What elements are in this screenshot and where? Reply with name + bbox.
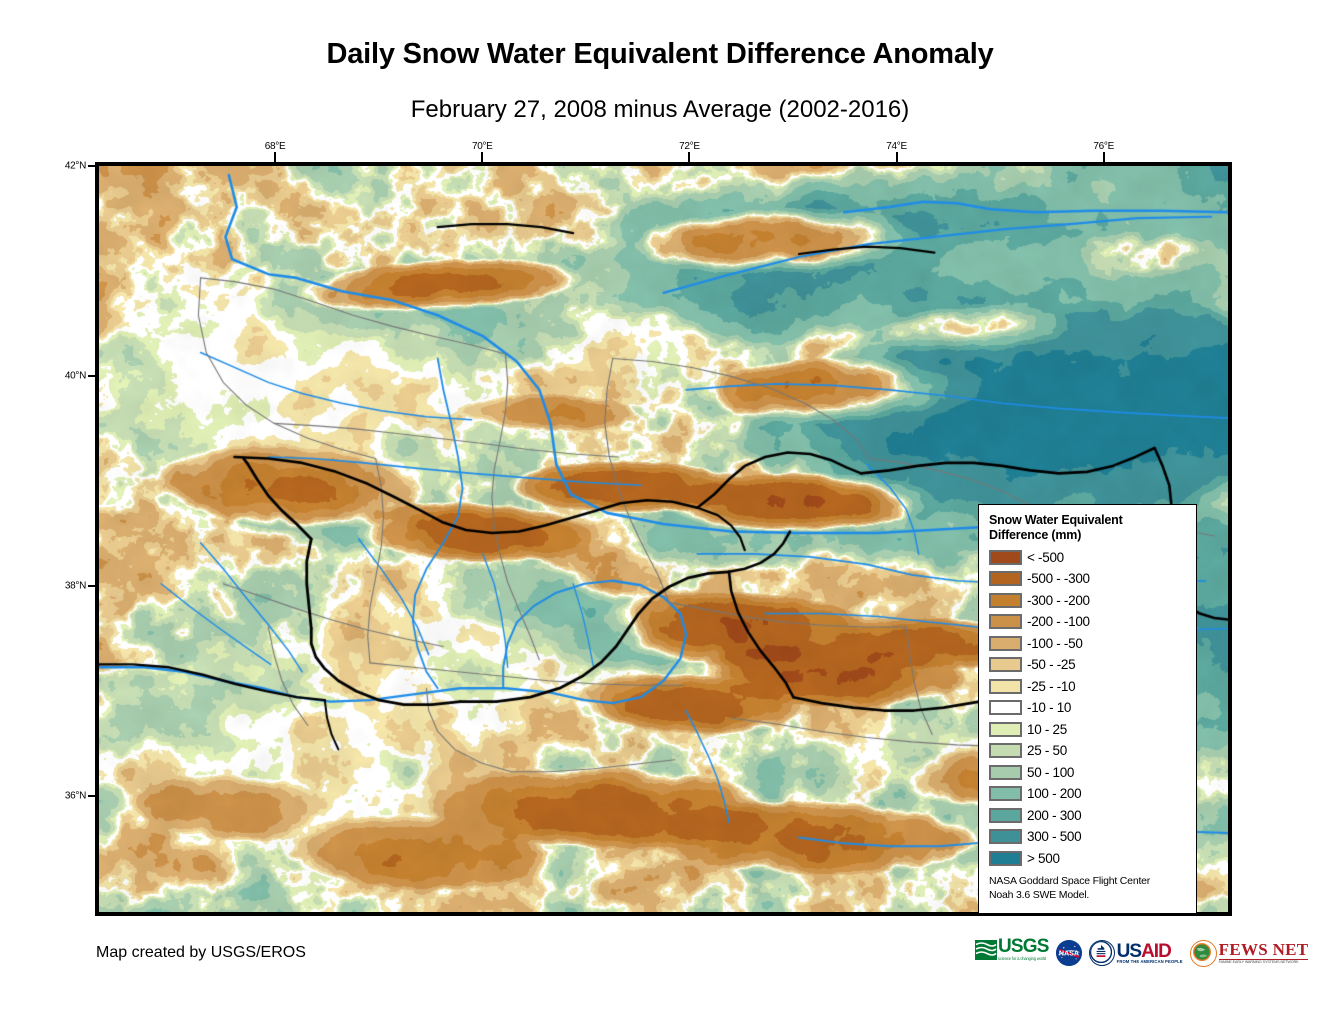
- legend-swatch: [989, 786, 1022, 801]
- legend-swatch: [989, 722, 1022, 737]
- longitude-tick: [896, 152, 898, 162]
- legend-label: -100 - -50: [1027, 636, 1083, 651]
- usgs-wordmark: USGS: [998, 938, 1049, 956]
- page-subtitle: February 27, 2008 minus Average (2002-20…: [0, 96, 1320, 124]
- legend-label: -300 - -200: [1027, 593, 1090, 608]
- legend-swatch: [989, 550, 1022, 565]
- fewsnet-logo: FEWS NET FAMINE EARLY WARNING SYSTEMS NE…: [1190, 938, 1309, 968]
- legend-label: 200 - 300: [1027, 808, 1081, 823]
- longitude-tick: [1103, 152, 1105, 162]
- legend-label: -10 - 10: [1027, 700, 1071, 715]
- legend-label: 100 - 200: [1027, 786, 1081, 801]
- usgs-logo: USGS science for a changing world: [975, 938, 1049, 968]
- legend-swatch: [989, 571, 1022, 586]
- legend-row: < -500: [989, 547, 1196, 569]
- legend-row: 200 - 300: [989, 805, 1196, 827]
- latitude-label: 36°N: [65, 791, 86, 802]
- logo-strip: USGS science for a changing world NASA: [975, 936, 1308, 970]
- legend-swatch: [989, 657, 1022, 672]
- fews-wordmark: FEWS NET: [1219, 942, 1309, 960]
- legend-swatch: [989, 743, 1022, 758]
- latitude-label: 38°N: [65, 581, 86, 592]
- legend-swatch: [989, 829, 1022, 844]
- page-title: Daily Snow Water Equivalent Difference A…: [0, 38, 1320, 71]
- longitude-label: 70°E: [472, 141, 493, 152]
- legend-row: 25 - 50: [989, 740, 1196, 762]
- legend-label: -25 - -10: [1027, 679, 1075, 694]
- legend-row: > 500: [989, 848, 1196, 870]
- usaid-seal-icon: [1089, 940, 1115, 966]
- legend-row: -25 - -10: [989, 676, 1196, 698]
- legend-row: 10 - 25: [989, 719, 1196, 741]
- legend-title-line2: Difference (mm): [989, 528, 1189, 543]
- legend-row: 50 - 100: [989, 762, 1196, 784]
- nasa-logo: NASA: [1056, 938, 1082, 968]
- legend-label: -200 - -100: [1027, 614, 1090, 629]
- legend-row: -300 - -200: [989, 590, 1196, 612]
- legend-swatch: [989, 593, 1022, 608]
- legend-note-line1: NASA Goddard Space Flight Center: [989, 875, 1189, 889]
- fews-globe-icon: [1190, 940, 1217, 967]
- usaid-tagline: FROM THE AMERICAN PEOPLE: [1117, 960, 1183, 964]
- legend-swatch: [989, 700, 1022, 715]
- legend-label: -500 - -300: [1027, 571, 1090, 586]
- usgs-wave-icon: [975, 940, 997, 960]
- longitude-tick: [688, 152, 690, 162]
- longitude-label: 74°E: [886, 141, 907, 152]
- legend-class-list: < -500-500 - -300-300 - -200-200 - -100-…: [989, 547, 1196, 870]
- legend-row: -50 - -25: [989, 654, 1196, 676]
- legend-row: -10 - 10: [989, 697, 1196, 719]
- legend-title: Snow Water Equivalent Difference (mm): [989, 513, 1189, 544]
- legend-label: > 500: [1027, 851, 1060, 866]
- usaid-logo: USAID FROM THE AMERICAN PEOPLE: [1089, 938, 1183, 968]
- legend-swatch: [989, 851, 1022, 866]
- legend-swatch: [989, 636, 1022, 651]
- longitude-tick: [481, 152, 483, 162]
- latitude-label: 40°N: [65, 371, 86, 382]
- legend-row: -200 - -100: [989, 611, 1196, 633]
- legend-label: 50 - 100: [1027, 765, 1074, 780]
- usaid-wordmark: USAID: [1117, 943, 1183, 960]
- longitude-label: 76°E: [1093, 141, 1114, 152]
- legend-label: -50 - -25: [1027, 657, 1075, 672]
- legend-swatch: [989, 679, 1022, 694]
- legend-row: -500 - -300: [989, 568, 1196, 590]
- legend-label: 10 - 25: [1027, 722, 1067, 737]
- longitude-label: 68°E: [265, 141, 286, 152]
- usgs-tagline: science for a changing world: [998, 956, 1049, 962]
- longitude-label: 72°E: [679, 141, 700, 152]
- map-credit: Map created by USGS/EROS: [96, 944, 306, 962]
- fews-tagline: FAMINE EARLY WARNING SYSTEMS NETWORK: [1219, 961, 1309, 964]
- legend-row: -100 - -50: [989, 633, 1196, 655]
- legend-label: 300 - 500: [1027, 829, 1081, 844]
- legend-source-note: NASA Goddard Space Flight Center Noah 3.…: [989, 875, 1189, 903]
- longitude-tick: [274, 152, 276, 162]
- nasa-meatball-icon: NASA: [1056, 940, 1082, 966]
- legend-swatch: [989, 614, 1022, 629]
- svg-text:NASA: NASA: [1059, 950, 1079, 958]
- legend-label: 25 - 50: [1027, 743, 1067, 758]
- legend-label: < -500: [1027, 550, 1064, 565]
- map-legend: Snow Water Equivalent Difference (mm) < …: [978, 504, 1197, 914]
- legend-row: 300 - 500: [989, 826, 1196, 848]
- latitude-label: 42°N: [65, 161, 86, 172]
- legend-title-line1: Snow Water Equivalent: [989, 513, 1189, 528]
- legend-swatch: [989, 765, 1022, 780]
- legend-swatch: [989, 808, 1022, 823]
- legend-note-line2: Noah 3.6 SWE Model.: [989, 889, 1189, 903]
- legend-row: 100 - 200: [989, 783, 1196, 805]
